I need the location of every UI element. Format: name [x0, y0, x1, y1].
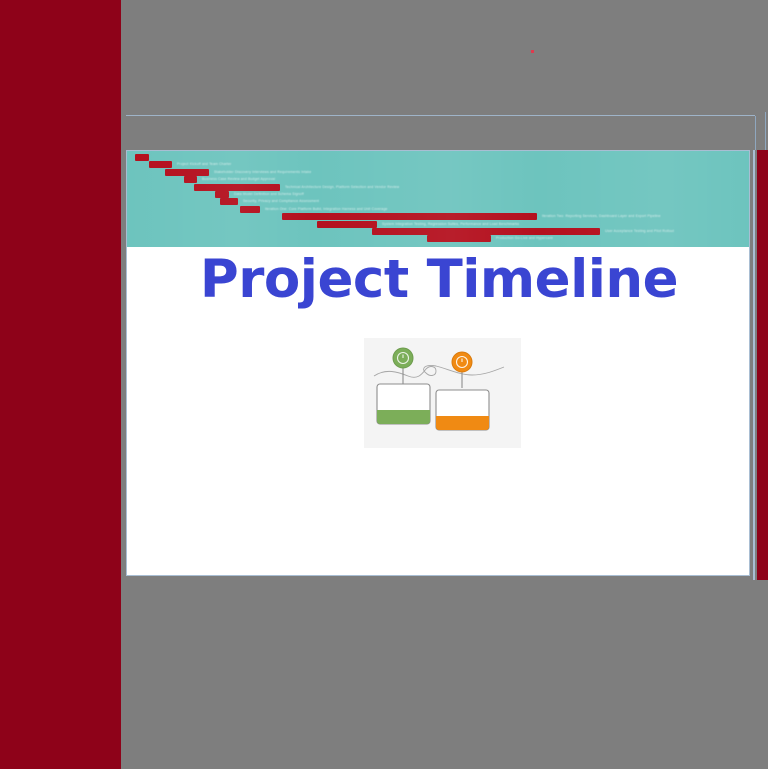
gantt-bar: [317, 221, 377, 228]
gantt-bar: [135, 154, 149, 161]
gantt-bar: [194, 184, 280, 191]
gantt-task-label: Technical Architecture Design, Platform …: [285, 185, 399, 190]
gantt-row: Iteration Two: Reporting Services, Dashb…: [282, 213, 661, 220]
app-window: Project Kickoff and Team CharterStakehol…: [0, 0, 768, 769]
gantt-row: Stakeholder Discovery Interviews and Req…: [165, 169, 311, 176]
toolbar-divider: [126, 115, 755, 116]
gantt-bar: [427, 235, 491, 242]
gantt-task-label: Security, Privacy and Compliance Assessm…: [243, 199, 319, 204]
left-rail-panel: [0, 0, 121, 769]
right-panel-divider-outer: [765, 112, 766, 152]
gantt-row: Security, Privacy and Compliance Assessm…: [220, 198, 319, 205]
gantt-bar: [165, 169, 209, 176]
gantt-row: Production Go-Live and Hypercare: [427, 235, 553, 242]
right-panel-divider: [755, 116, 756, 150]
gantt-bar: [240, 206, 260, 213]
gantt-task-label: Project Kickoff and Team Charter: [177, 162, 231, 167]
gantt-task-label: Business Case Review and Budget Approval: [202, 177, 275, 182]
gantt-bar: [184, 176, 197, 183]
right-node-icon: [452, 352, 472, 372]
timeline-cards-illustration: [364, 338, 521, 448]
gantt-bar: [215, 191, 229, 198]
gantt-row: Data Model Definition and Schema Signoff: [215, 191, 304, 198]
gantt-task-label: Iteration One: Core Platform Build, Inte…: [265, 207, 388, 212]
gantt-row: [135, 154, 149, 161]
gantt-bar: [282, 213, 537, 220]
gantt-row: Iteration One: Core Platform Build, Inte…: [240, 206, 388, 213]
right-card: [436, 390, 489, 430]
right-rail-panel[interactable]: [757, 150, 768, 580]
slide-canvas[interactable]: Project Kickoff and Team CharterStakehol…: [126, 150, 750, 576]
gantt-bar: [149, 161, 172, 168]
gantt-row: Project Kickoff and Team Charter: [149, 161, 231, 168]
gantt-task-label: Data Model Definition and Schema Signoff: [234, 192, 304, 197]
connector-line: [374, 365, 504, 377]
gantt-task-label: User Acceptance Testing and Pilot Rollou…: [605, 229, 674, 234]
gantt-bar: [220, 198, 238, 205]
right-rail-edge: [753, 150, 755, 580]
gantt-task-label: Stakeholder Discovery Interviews and Req…: [214, 170, 311, 175]
gantt-task-label: Iteration Two: Reporting Services, Dashb…: [542, 214, 661, 219]
page-title: Project Timeline: [127, 250, 750, 310]
gantt-row: Technical Architecture Design, Platform …: [194, 184, 399, 191]
gantt-row: User Acceptance Testing and Pilot Rollou…: [372, 228, 674, 235]
gantt-row: Business Case Review and Budget Approval: [184, 176, 275, 183]
left-card: [377, 384, 430, 424]
gantt-row: System Integration Testing, Regression S…: [317, 221, 519, 228]
cursor-dot: [531, 50, 534, 53]
left-node-icon: [393, 348, 413, 368]
gantt-task-label: Production Go-Live and Hypercare: [496, 236, 553, 241]
gantt-task-label: System Integration Testing, Regression S…: [382, 222, 519, 227]
gantt-bar: [372, 228, 600, 235]
gantt-chart-banner: Project Kickoff and Team CharterStakehol…: [127, 151, 750, 247]
